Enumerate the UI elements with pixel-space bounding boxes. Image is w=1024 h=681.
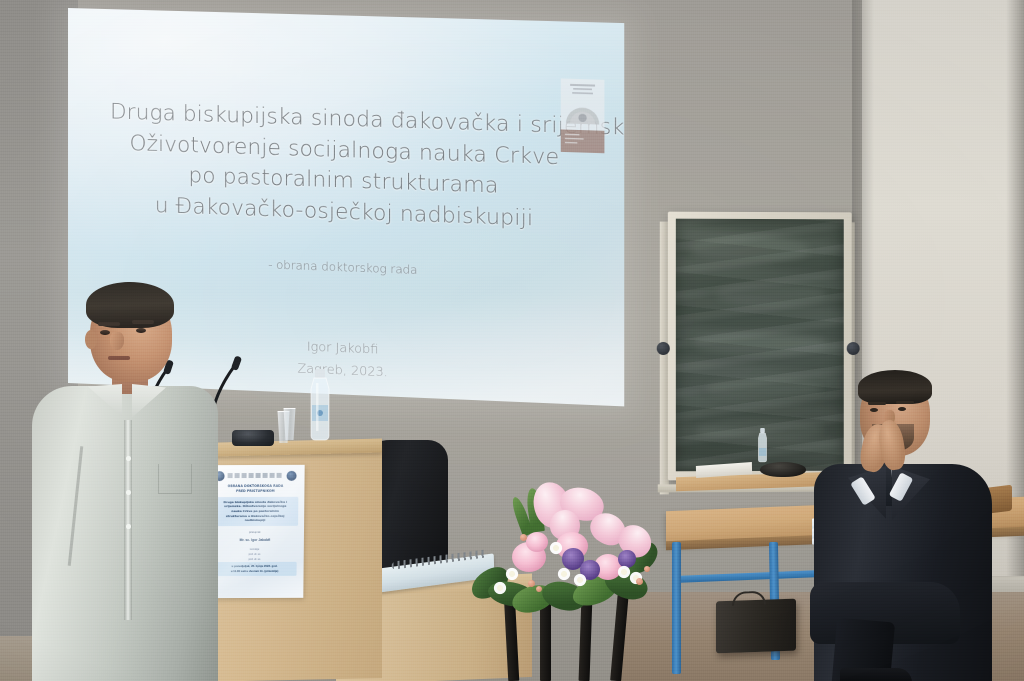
- microphone-controller-unit[interactable]: [232, 430, 274, 446]
- poster-presenter-name: Mr. sc. Igor Jakobfi: [210, 538, 300, 542]
- poster-footer: u ponedjeljak, 26. lipnja 2023. god. u 1…: [213, 561, 297, 576]
- poster-seal-right-icon: [287, 470, 297, 480]
- flower-stand-leg-2: [540, 598, 551, 681]
- seated-shoe: [840, 668, 912, 681]
- flower-arrangement: [468, 474, 664, 681]
- photo-scene: Druga biskupijska sinoda đakovačka i sri…: [0, 0, 1024, 681]
- seated-eye-left: [870, 408, 878, 412]
- chalkboard-pivot-knob-right[interactable]: [847, 342, 860, 355]
- presenter-shirt-pocket: [158, 464, 192, 494]
- poster-header: OBRANA DOKTORSKOGA RADA PRED PRISTUPNIKO…: [210, 484, 300, 494]
- presenter-eye-right: [136, 328, 146, 333]
- presenter-shirt-button-3: [126, 524, 131, 529]
- flower-stand-leg-4: [610, 592, 629, 681]
- seated-eye-right: [898, 407, 906, 411]
- white-daisy: [556, 566, 572, 582]
- presenter-brow-right: [132, 320, 154, 324]
- white-daisy: [548, 540, 564, 556]
- presenter-nose: [110, 332, 124, 350]
- seated-hair: [858, 370, 932, 404]
- berry-cluster: [644, 566, 650, 572]
- rose-bud: [526, 532, 548, 552]
- water-bottle-lectern: [307, 369, 333, 443]
- presenter-mouth: [108, 356, 130, 360]
- right-desk-leg-1: [672, 542, 681, 674]
- poster-presenter-label: pristupnik:: [210, 531, 300, 536]
- chalkboard-pivot-knob-left[interactable]: [657, 342, 670, 355]
- berry-cluster: [528, 580, 535, 587]
- presenter-shirt-placket: [124, 420, 132, 620]
- plastic-cups: [276, 408, 298, 444]
- presenter-at-lectern: [28, 278, 218, 681]
- white-daisy: [572, 572, 588, 588]
- berry-cluster: [536, 586, 542, 592]
- poster-wordmark: [228, 473, 284, 478]
- seated-committee-member: [800, 368, 1000, 681]
- poster-header-line-2: PRED PRISTUPNIKOM: [210, 488, 300, 493]
- flower-stand-leg-3: [579, 596, 593, 681]
- poster-footer-line-2: u 11.00 sati u dvorani 11. (prizemlje): [214, 569, 296, 574]
- presenter-shirt-button-2: [126, 490, 131, 495]
- presenter-shirt-button-1: [126, 456, 131, 461]
- dark-briefcase: [716, 599, 796, 654]
- berry-cluster: [520, 534, 527, 541]
- poster-logo-row: [211, 470, 301, 481]
- seated-brow-left: [868, 402, 886, 405]
- presenter-brow-left: [98, 322, 120, 326]
- presenter-eye-left: [100, 330, 110, 335]
- poster-title-line-5: nadbiskupiji: [214, 518, 296, 523]
- slide-title: Druga biskupijska sinoda đakovačka i sri…: [90, 97, 600, 237]
- seated-brow-right: [896, 401, 914, 404]
- presenter-ear: [85, 330, 97, 349]
- university-seal-logo: [560, 78, 606, 153]
- poster-thesis-title: Druga biskupijska sinoda đakovačka i sri…: [212, 497, 298, 527]
- defence-announcement-poster: OBRANA DOKTORSKOGA RADA PRED PRISTUPNIKO…: [205, 465, 304, 598]
- water-bottle-back-table: [756, 428, 769, 464]
- white-daisy: [492, 580, 508, 596]
- berry-cluster: [636, 578, 643, 585]
